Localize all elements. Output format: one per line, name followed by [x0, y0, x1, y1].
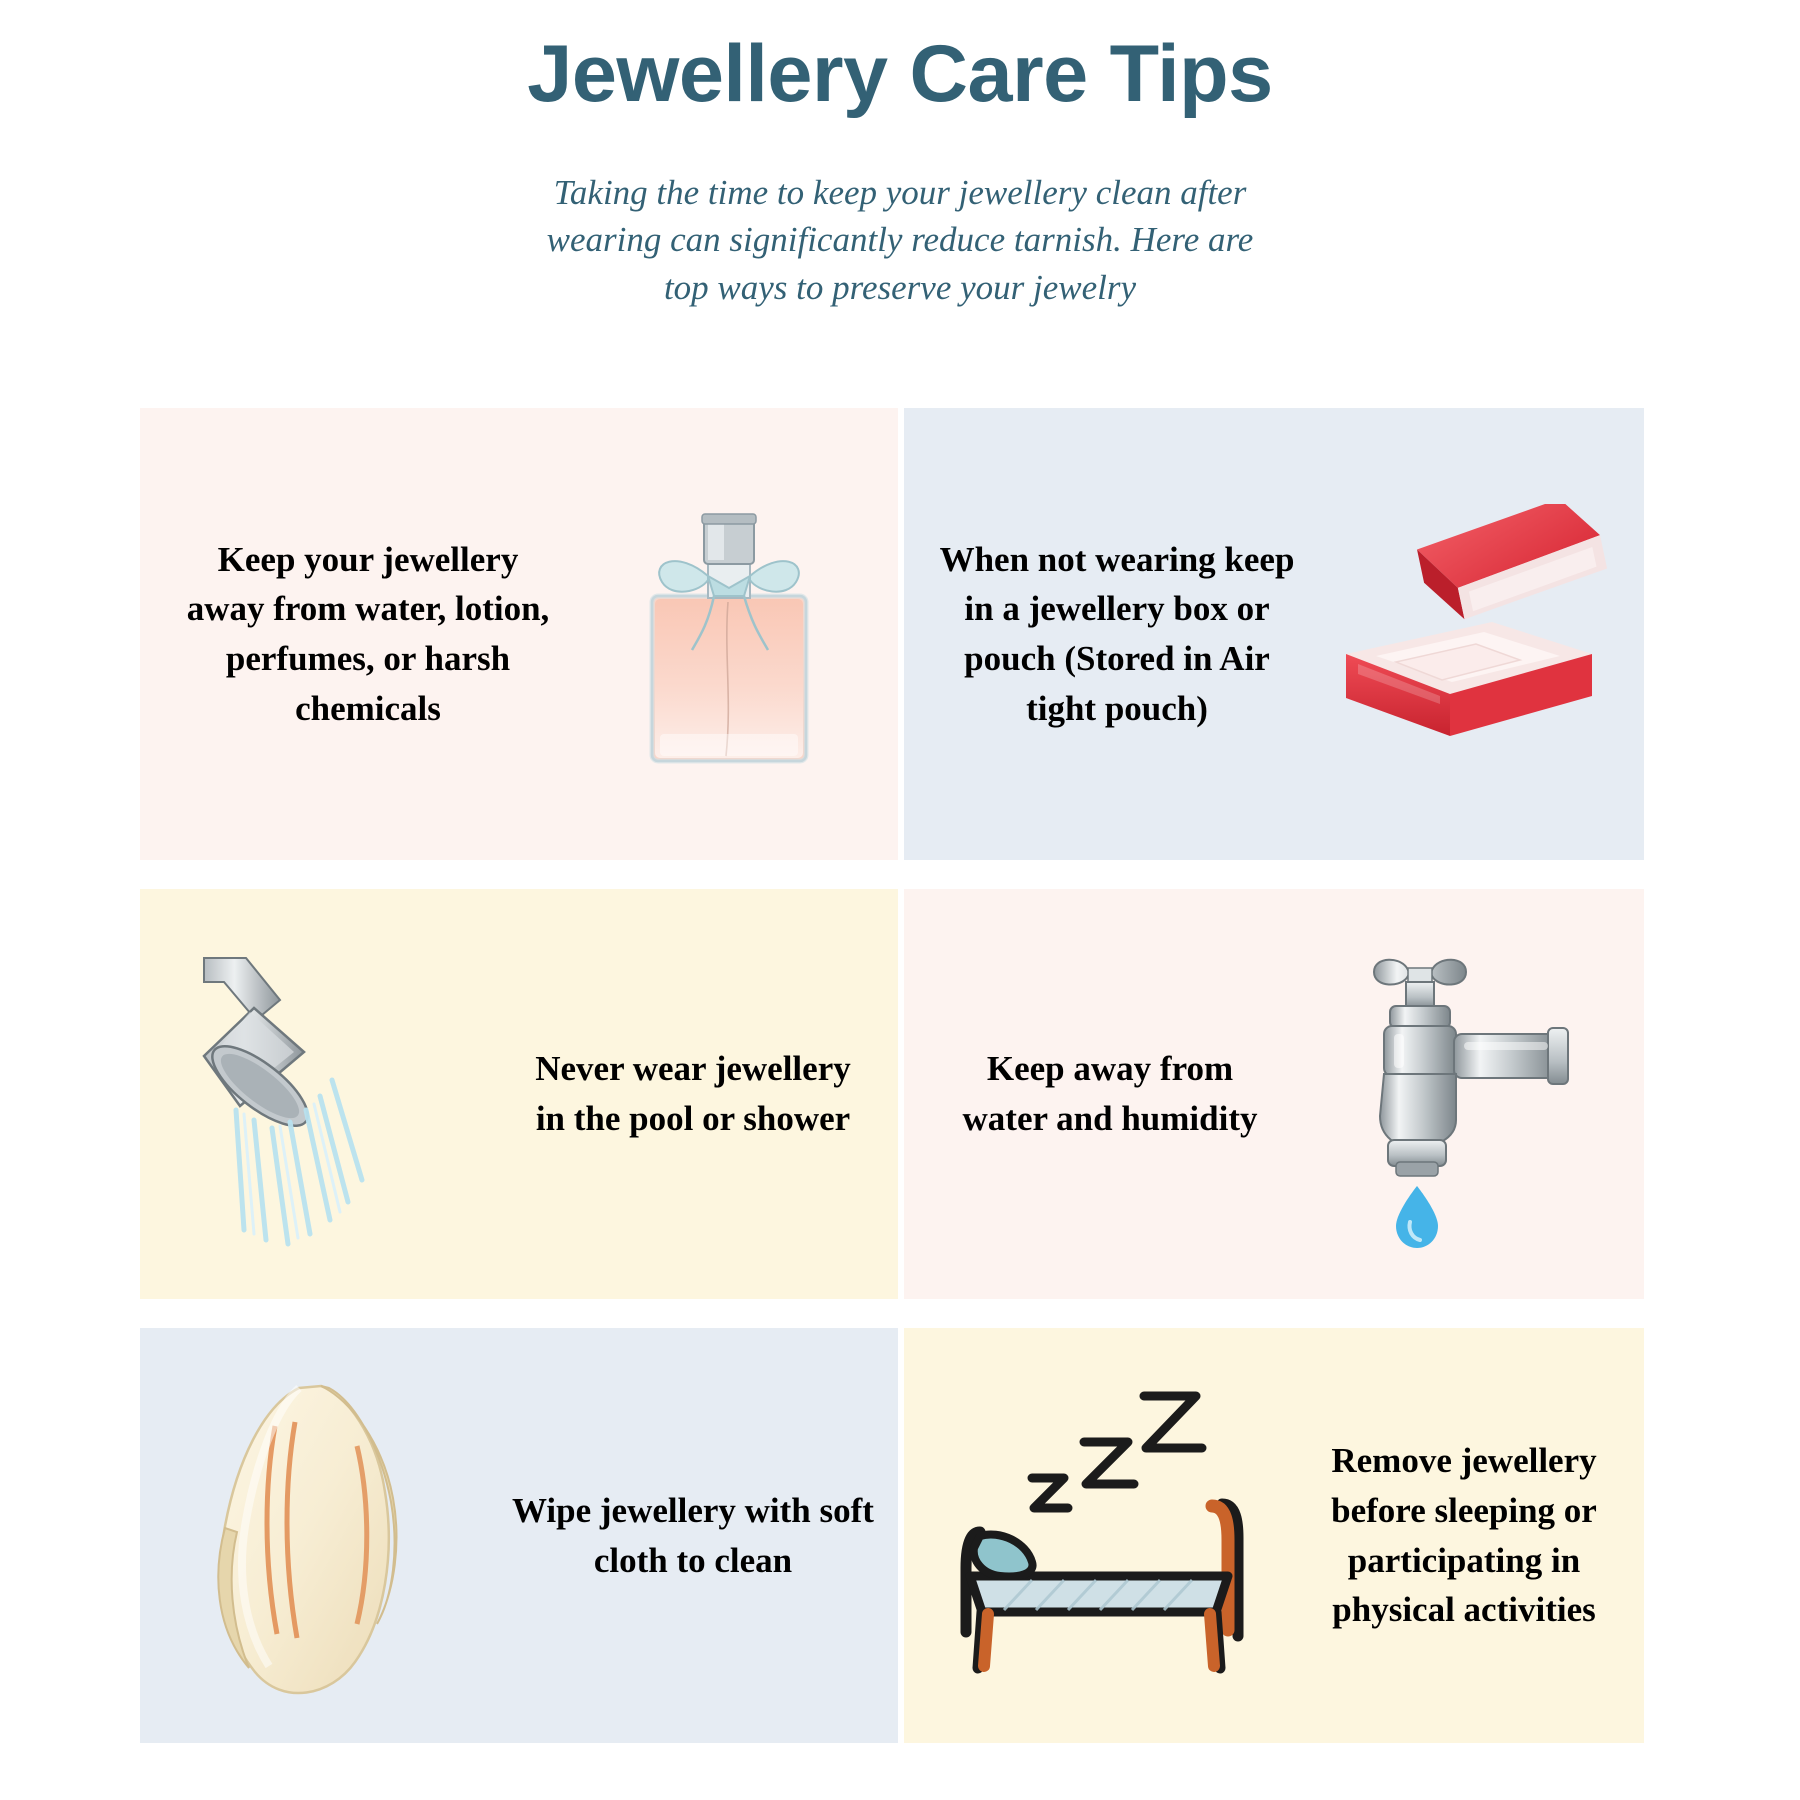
infographic-page: Jewellery Care Tips Taking the time to k…	[0, 0, 1800, 1800]
page-title: Jewellery Care Tips	[0, 32, 1800, 117]
tip-card-sleep: Remove jewellery before sleeping or part…	[904, 1328, 1644, 1743]
tip-card-shower: Never wear jewellery in the pool or show…	[140, 889, 898, 1299]
tip-card-wipe: Wipe jewellery with soft cloth to clean	[140, 1328, 898, 1743]
cloth-icon	[140, 1366, 498, 1706]
tip-card-text: Never wear jewellery in the pool or show…	[518, 1044, 898, 1143]
tip-card-chemicals: Keep your jewellery away from water, lot…	[140, 408, 898, 860]
tip-card-text: Wipe jewellery with soft cloth to clean	[498, 1486, 898, 1585]
tip-card-text: When not wearing keep in a jewellery box…	[904, 535, 1304, 734]
page-subtitle: Taking the time to keep your jewellery c…	[520, 169, 1280, 311]
tip-card-text: Keep away from water and humidity	[904, 1044, 1264, 1143]
tip-card-text: Remove jewellery before sleeping or part…	[1314, 1436, 1644, 1635]
shower-head-icon	[140, 934, 518, 1254]
bed-sleeping-icon	[904, 1386, 1314, 1686]
tip-card-storage: When not wearing keep in a jewellery box…	[904, 408, 1644, 860]
perfume-bottle-icon	[560, 484, 898, 784]
jewellery-box-icon	[1304, 504, 1644, 764]
tips-grid: Keep your jewellery away from water, lot…	[140, 408, 1638, 1743]
tip-card-humidity: Keep away from water and humidity	[904, 889, 1644, 1299]
tip-card-text: Keep your jewellery away from water, lot…	[140, 535, 560, 734]
header: Jewellery Care Tips Taking the time to k…	[0, 0, 1800, 311]
faucet-icon	[1264, 934, 1644, 1254]
